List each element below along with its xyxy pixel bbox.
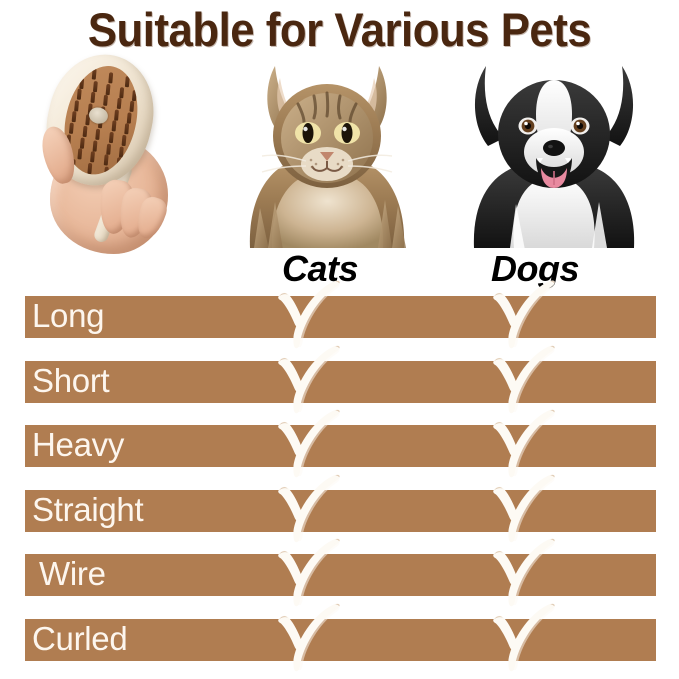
table-row: Long (25, 296, 656, 338)
table-row: Short (25, 361, 656, 403)
row-bar (25, 361, 656, 403)
row-label: Straight (32, 491, 143, 529)
row-label: Wire (39, 555, 106, 593)
table-row: Wire (25, 554, 656, 596)
row-bar (25, 554, 656, 596)
row-label: Short (32, 362, 109, 400)
infographic-page: Suitable for Various Pets (0, 0, 679, 679)
table-row: Curled (25, 619, 656, 661)
row-label: Heavy (32, 426, 124, 464)
row-label: Long (32, 297, 104, 335)
suitability-table: Long Short (0, 0, 679, 679)
row-bar (25, 296, 656, 338)
row-label: Curled (32, 620, 127, 658)
table-row: Straight (25, 490, 656, 532)
table-row: Heavy (25, 425, 656, 467)
